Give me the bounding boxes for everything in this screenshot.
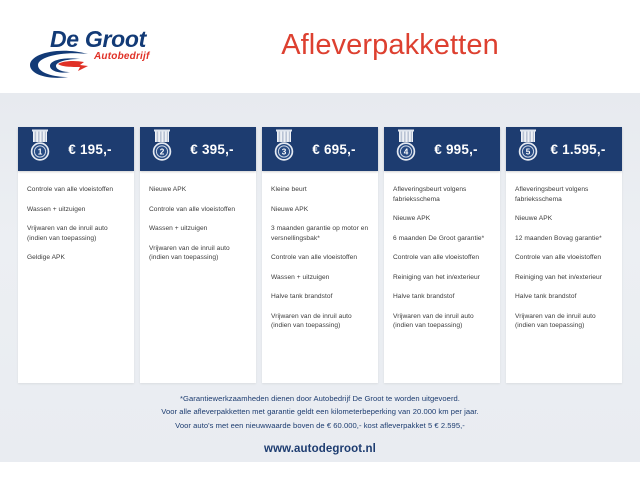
package-feature-item: Controle van alle vloeistoffen [515, 253, 613, 263]
package-feature-item: Nieuwe APK [515, 214, 613, 224]
svg-text:4: 4 [404, 148, 409, 157]
package-feature-item: Vrijwaren van de inruil auto (indien van… [27, 224, 125, 243]
package-feature-item: Vrijwaren van de inruil auto (indien van… [271, 312, 369, 331]
package-feature-item: Wassen + uitzuigen [27, 205, 125, 215]
footnote-line: Voor auto's met een nieuwwaarde boven de… [0, 419, 640, 432]
package-feature-item: Vrijwaren van de inruil auto (indien van… [393, 312, 491, 331]
package-feature-list: Controle van alle vloeistoffenWassen + u… [18, 171, 134, 383]
svg-text:1: 1 [38, 148, 43, 157]
package-feature-item: Controle van alle vloeistoffen [149, 205, 247, 215]
package-card-list: 1€ 195,-Controle van alle vloeistoffenWa… [18, 127, 622, 383]
package-feature-item: Wassen + uitzuigen [149, 224, 247, 234]
footnote: *Garantiewerkzaamheden dienen door Autob… [0, 392, 640, 432]
package-card-header: 1€ 195,- [18, 127, 134, 171]
package-feature-list: Afleveringsbeurt volgens fabrieksschemaN… [384, 171, 500, 383]
medal-icon: 1 [25, 124, 55, 168]
package-card[interactable]: 1€ 195,-Controle van alle vloeistoffenWa… [18, 127, 134, 383]
package-card-header: 4€ 995,- [384, 127, 500, 171]
package-card-header: 3€ 695,- [262, 127, 378, 171]
package-feature-item: Vrijwaren van de inruil auto (indien van… [149, 244, 247, 263]
afleverpakketten-page: De Groot Autobedrijf Afleverpakketten 1€… [0, 0, 640, 480]
medal-icon: 5 [513, 124, 543, 168]
package-feature-item: Nieuwe APK [393, 214, 491, 224]
package-feature-item: Afleveringsbeurt volgens fabrieksschema [515, 185, 613, 204]
medal-icon: 3 [269, 124, 299, 168]
package-feature-list: Afleveringsbeurt volgens fabrieksschemaN… [506, 171, 622, 383]
svg-text:3: 3 [282, 148, 287, 157]
medal-icon: 2 [147, 124, 177, 168]
package-feature-list: Kleine beurtNieuwe APK3 maanden garantie… [262, 171, 378, 383]
package-feature-item: 3 maanden garantie op motor en versnelli… [271, 224, 369, 243]
package-feature-item: Controle van alle vloeistoffen [393, 253, 491, 263]
package-card[interactable]: 3€ 695,-Kleine beurtNieuwe APK3 maanden … [262, 127, 378, 383]
footnote-line: *Garantiewerkzaamheden dienen door Autob… [0, 392, 640, 405]
package-feature-item: Vrijwaren van de inruil auto (indien van… [515, 312, 613, 331]
package-card[interactable]: 4€ 995,-Afleveringsbeurt volgens fabriek… [384, 127, 500, 383]
page-header: De Groot Autobedrijf Afleverpakketten [0, 0, 640, 93]
package-feature-item: 6 maanden De Groot garantie* [393, 234, 491, 244]
page-title: Afleverpakketten [0, 29, 640, 62]
package-card-header: 5€ 1.595,- [506, 127, 622, 171]
package-feature-item: Wassen + uitzuigen [271, 273, 369, 283]
package-feature-item: Reiniging van het in/exterieur [393, 273, 491, 283]
package-feature-item: Controle van alle vloeistoffen [27, 185, 125, 195]
package-card[interactable]: 2€ 395,-Nieuwe APKControle van alle vloe… [140, 127, 256, 383]
package-card-header: 2€ 395,- [140, 127, 256, 171]
website-url[interactable]: www.autodegroot.nl [0, 443, 640, 455]
package-feature-item: Nieuwe APK [271, 205, 369, 215]
medal-icon: 4 [391, 124, 421, 168]
package-card[interactable]: 5€ 1.595,-Afleveringsbeurt volgens fabri… [506, 127, 622, 383]
package-feature-item: Geldige APK [27, 253, 125, 263]
package-feature-item: Halve tank brandstof [515, 292, 613, 302]
package-feature-item: Kleine beurt [271, 185, 369, 195]
package-feature-item: 12 maanden Bovag garantie* [515, 234, 613, 244]
package-feature-item: Afleveringsbeurt volgens fabrieksschema [393, 185, 491, 204]
svg-text:5: 5 [526, 148, 531, 157]
package-feature-item: Controle van alle vloeistoffen [271, 253, 369, 263]
package-feature-list: Nieuwe APKControle van alle vloeistoffen… [140, 171, 256, 383]
package-feature-item: Reiniging van het in/exterieur [515, 273, 613, 283]
footnote-line: Voor alle afleverpakketten met garantie … [0, 405, 640, 418]
svg-text:2: 2 [160, 148, 165, 157]
package-feature-item: Halve tank brandstof [393, 292, 491, 302]
package-feature-item: Nieuwe APK [149, 185, 247, 195]
package-feature-item: Halve tank brandstof [271, 292, 369, 302]
